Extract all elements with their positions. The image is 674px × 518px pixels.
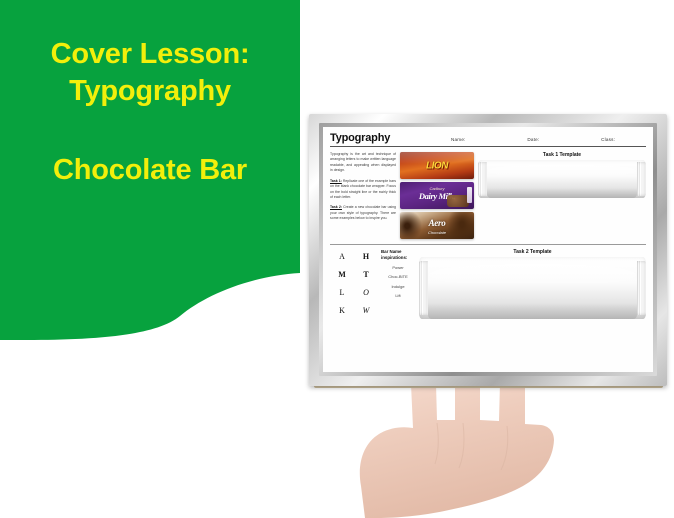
name-field-label: Name:	[451, 137, 466, 142]
dairy-milk-chocolate-graphic	[447, 195, 469, 207]
worksheet-lower-body: A H M T L O K W Bar Name inspirations: P…	[330, 244, 646, 319]
task1-blank-wrapper[interactable]	[478, 160, 646, 198]
aero-bar-label: Aero	[400, 218, 474, 228]
example-bars-column: LION Cadbury Dairy Milk.	[400, 152, 478, 239]
letter-examples-grid: A H M T L O K W	[330, 249, 378, 319]
worksheet-upper-body: Typography is the art and technique of a…	[330, 152, 646, 239]
task1-lead: Task 1:	[330, 179, 342, 183]
cover-panel: Cover Lesson: Typography Chocolate Bar	[0, 0, 310, 340]
task1-column: Task 1 Template	[478, 152, 646, 239]
letter-example-h: H	[363, 253, 369, 261]
hand-illustration	[327, 368, 577, 518]
letter-example-o: O	[363, 289, 369, 297]
date-field-label: Date:	[527, 137, 539, 142]
worksheet-fields: Name: Date: Class:	[390, 137, 646, 144]
inspiration-item-indulge: Indulge	[381, 284, 415, 289]
cover-line-3: Chocolate Bar	[53, 152, 247, 189]
lion-bar-image: LION	[400, 152, 474, 179]
cover-text-block: Cover Lesson: Typography Chocolate Bar	[0, 0, 300, 300]
picture-frame: Typography Name: Date: Class: Typography…	[309, 114, 667, 386]
intro-paragraph: Typography is the art and technique of a…	[330, 152, 396, 174]
letter-example-m: M	[338, 271, 346, 279]
aero-bar-image: Aero Chocolate	[400, 212, 474, 239]
task2-template-label: Task 2 Template	[419, 249, 646, 255]
task2-blank-wrapper[interactable]	[419, 257, 646, 319]
letter-example-w: W	[363, 307, 370, 315]
picture-frame-inner: Typography Name: Date: Class: Typography…	[319, 123, 657, 376]
cover-line-1: Cover Lesson:	[51, 36, 250, 73]
aero-bar-sublabel: Chocolate	[400, 230, 474, 235]
letter-example-k: K	[339, 307, 345, 315]
task2-wrapper-shadow	[428, 303, 637, 319]
lion-bar-label: LION	[400, 160, 474, 171]
dairy-milk-bar-image: Cadbury Dairy Milk.	[400, 182, 474, 209]
inspiration-item-lift: Lift	[381, 293, 415, 298]
inspirations-title: Bar Name inspirations:	[381, 249, 415, 261]
task2-paragraph: Task 2: Create a new chocolate bar using…	[330, 205, 396, 221]
task1-template-label: Task 1 Template	[478, 152, 646, 158]
task1-wrapper-sheen	[488, 165, 636, 178]
class-field-label: Class:	[601, 137, 615, 142]
instructions-column: Typography is the art and technique of a…	[330, 152, 400, 239]
worksheet-title: Typography	[330, 132, 390, 144]
dairy-milk-glass-graphic	[467, 187, 472, 203]
worksheet-paper: Typography Name: Date: Class: Typography…	[323, 127, 653, 372]
cover-line-2: Typography	[69, 73, 231, 110]
worksheet-header: Typography Name: Date: Class:	[330, 132, 646, 147]
letter-example-l: L	[340, 289, 345, 297]
task1-paragraph: Task 1: Replicate one of the example bar…	[330, 179, 396, 201]
inspiration-item-power: Power	[381, 265, 415, 270]
task2-column: Task 2 Template	[415, 249, 646, 319]
letter-example-a: A	[339, 253, 345, 261]
task1-wrapper-shadow	[487, 188, 637, 198]
worksheet-photo: Typography Name: Date: Class: Typography…	[305, 110, 674, 504]
worksheet: Typography Name: Date: Class: Typography…	[323, 127, 653, 372]
task2-wrapper-sheen	[429, 264, 636, 285]
letter-example-t: T	[363, 271, 368, 279]
task2-lead: Task 2:	[330, 205, 342, 209]
inspiration-item-choc-bite: Choc-BITE	[381, 274, 415, 279]
bar-name-inspirations: Bar Name inspirations: Power Choc-BITE I…	[378, 249, 415, 319]
